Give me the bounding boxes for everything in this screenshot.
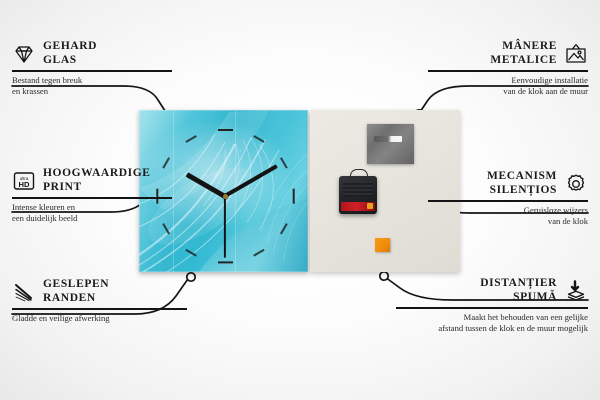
clock-second-hand — [224, 196, 226, 258]
polished-edges-icon — [12, 280, 36, 304]
clock-mechanism — [339, 176, 377, 214]
feature-title-line2: RANDEN — [43, 292, 109, 306]
infographic-canvas: GEHARD GLAS Bestand tegen breuk en krass… — [0, 0, 600, 400]
picture-frame-icon — [564, 42, 588, 66]
feature-title-line2: SPUMĂ — [480, 291, 557, 305]
feature-desc-line1: Intense kleuren en — [12, 202, 172, 213]
feature-title-line2: GLAS — [43, 54, 97, 68]
svg-text:HD: HD — [19, 180, 30, 189]
clock-tick — [292, 188, 294, 203]
feature-title-line1: DISTANȚIER — [480, 277, 557, 291]
feature-title-line2: METALICE — [490, 54, 557, 68]
feature-desc-line2: een duidelijk beeld — [12, 213, 172, 224]
feature-desc-line1: Gladde en veilige afwerking — [12, 313, 187, 324]
feature-metal-handles: MÂNERE METALICE Eenvoudige installatie v… — [428, 40, 588, 97]
feature-title-line1: MECANISM — [487, 170, 557, 184]
battery-terminal — [367, 203, 373, 209]
feature-title-line1: MÂNERE — [490, 40, 557, 54]
feature-silent-mechanism: MECANISM SILENȚIOS Geruisloze wijzers va… — [428, 170, 588, 227]
foam-spacer — [375, 238, 390, 252]
feature-title-line1: GEHARD — [43, 40, 97, 54]
feature-divider — [12, 70, 172, 72]
feature-title-line1: HOOGWAARDIGE — [43, 167, 151, 181]
feature-divider — [428, 70, 588, 72]
clock-tick — [218, 129, 233, 131]
wire-dot-foam-spacer — [380, 272, 388, 280]
feature-desc-line2: van de klok aan de muur — [428, 86, 588, 97]
feature-divider — [12, 308, 187, 310]
wire-dot-polished-edges — [187, 273, 195, 281]
mechanism-body — [343, 181, 373, 197]
feature-desc-line1: Bestand tegen breuk — [12, 75, 172, 86]
feature-desc-line1: Maakt het behouden van een gelijke — [396, 312, 588, 323]
feature-desc-line2: van de klok — [428, 216, 588, 227]
feature-hd-print: ultra HD HOOGWAARDIGE PRINT Intense kleu… — [12, 167, 172, 224]
feature-desc-line1: Eenvoudige installatie — [428, 75, 588, 86]
feature-polished-edges: GESLEPEN RANDEN Gladde en veilige afwerk… — [12, 278, 187, 324]
layers-down-arrow-icon — [564, 279, 588, 303]
feature-title-line2: PRINT — [43, 181, 151, 195]
ultra-hd-icon: ultra HD — [12, 169, 36, 193]
gear-icon — [564, 172, 588, 196]
feature-divider — [396, 307, 588, 309]
feature-desc-line2: afstand tussen de klok en de muur mogeli… — [396, 323, 588, 334]
feature-divider — [428, 200, 588, 202]
mechanism-hook — [350, 169, 368, 179]
clock-center-hub — [223, 194, 228, 199]
feature-divider — [12, 197, 172, 199]
diamond-icon — [12, 42, 36, 66]
feature-desc-line2: en krassen — [12, 86, 172, 97]
clock-tick — [218, 261, 233, 263]
feature-desc-line1: Geruisloze wijzers — [428, 205, 588, 216]
metal-hanger-plate — [367, 124, 414, 164]
hanger-slot — [374, 136, 402, 142]
feature-tempered-glass: GEHARD GLAS Bestand tegen breuk en krass… — [12, 40, 172, 97]
battery — [341, 202, 375, 211]
feature-title-line1: GESLEPEN — [43, 278, 109, 292]
feature-title-line2: SILENȚIOS — [487, 184, 557, 198]
feature-foam-spacer: DISTANȚIER SPUMĂ Maakt het behouden van … — [396, 277, 588, 334]
